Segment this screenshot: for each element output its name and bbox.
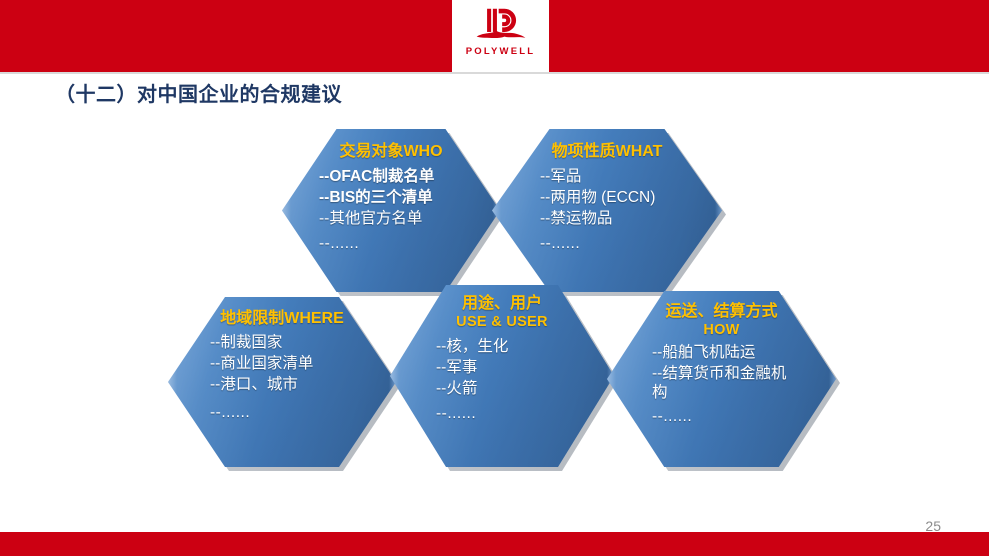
hex-what-heading: 物项性质WHAT bbox=[552, 143, 663, 162]
hex-what-items: --军品 --两用物 (ECCN) --禁运物品 --...... bbox=[502, 167, 712, 255]
hex-how-items: --船舶飞机陆运 --结算货币和金融机构 --...... bbox=[617, 343, 826, 428]
slide-canvas: POLYWELL （十二）对中国企业的合规建议 交易对象WHO --OFAC制裁… bbox=[0, 0, 989, 556]
hex-use-item-1: --军事 bbox=[436, 358, 604, 379]
hex-where-item-3: --...... bbox=[210, 403, 386, 424]
hex-where-item-1: --商业国家清单 bbox=[210, 354, 386, 375]
hex-use-item-3: --...... bbox=[436, 404, 604, 425]
hex-who-items: --OFAC制裁名单 --BIS的三个清单 --其他官方名单 --...... bbox=[292, 167, 490, 255]
hex-who-item-3: --...... bbox=[319, 234, 490, 255]
hex-what-item-2: --禁运物品 bbox=[540, 209, 712, 230]
hex-use-heading: 用途、用户 bbox=[462, 295, 542, 314]
hex-where-item-2: --港口、城市 bbox=[210, 375, 386, 396]
hex-how-heading: 运送、结算方式 bbox=[665, 303, 777, 322]
hex-how-item-1: --结算货币和金融机构 bbox=[652, 364, 800, 403]
hex-who-heading: 交易对象WHO bbox=[339, 143, 442, 162]
footer-red-bar bbox=[0, 532, 989, 556]
hex-use-subheading: USE & USER bbox=[456, 314, 548, 331]
hex-what-item-3: --...... bbox=[540, 234, 712, 255]
hex-who-item-1: --BIS的三个清单 bbox=[319, 188, 490, 209]
hex-how-subheading: HOW bbox=[703, 322, 739, 339]
hex-use-item-0: --核，生化 bbox=[436, 337, 604, 358]
hex-where-items: --制裁国家 --商业国家清单 --港口、城市 --...... bbox=[178, 333, 386, 424]
hex-where-item-0: --制裁国家 bbox=[210, 333, 386, 354]
hex-how-item-0: --船舶飞机陆运 bbox=[652, 343, 826, 364]
hex-who-item-0: --OFAC制裁名单 bbox=[319, 167, 490, 188]
hex-use-items: --核，生化 --军事 --火箭 --...... bbox=[400, 337, 604, 425]
hex-how-item-2: --...... bbox=[652, 407, 826, 428]
hex-what-item-1: --两用物 (ECCN) bbox=[540, 188, 712, 209]
hex-who-item-2: --其他官方名单 bbox=[319, 209, 490, 230]
hex-use-item-2: --火箭 bbox=[436, 379, 604, 400]
hex-what-item-0: --军品 bbox=[540, 167, 712, 188]
hexagon-diagram: 交易对象WHO --OFAC制裁名单 --BIS的三个清单 --其他官方名单 -… bbox=[0, 0, 989, 556]
hex-where-heading: 地域限制WHERE bbox=[220, 310, 344, 329]
